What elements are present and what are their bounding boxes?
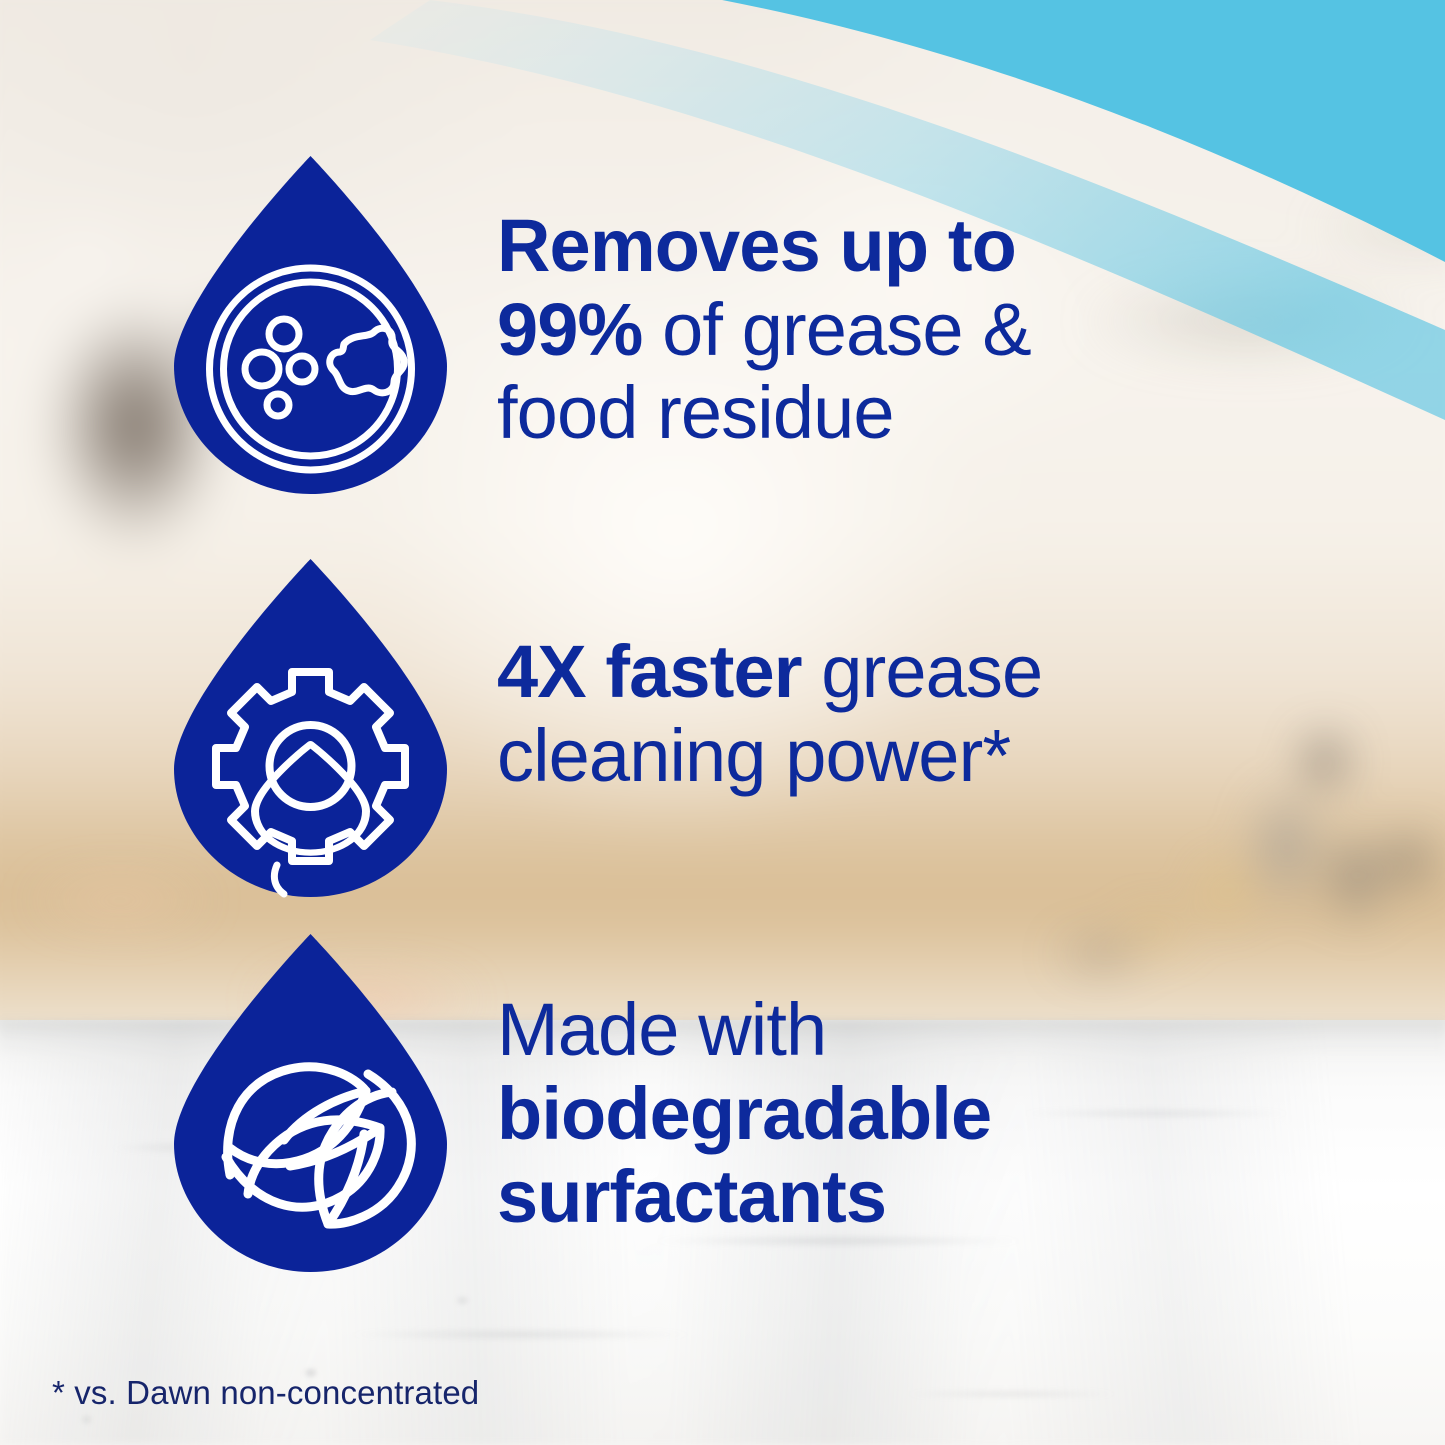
gear-with-water-droplet-icon — [168, 553, 453, 903]
product-benefits-panel: Removes up to 99% of grease & food resid… — [0, 0, 1445, 1445]
footnote-disclaimer: * vs. Dawn non-concentrated — [52, 1374, 479, 1412]
feature-3-bold-text: biodegradable surfactants — [497, 1072, 991, 1239]
feature-3-regular-text: Made with — [497, 988, 826, 1071]
features-list: Removes up to 99% of grease & food resid… — [0, 0, 1445, 1445]
feature-3-text: Made with biodegradable surfactants — [497, 988, 1137, 1239]
plate-with-bubbles-and-food-splat-icon — [168, 150, 453, 500]
feature-1-text: Removes up to 99% of grease & food resid… — [497, 204, 1157, 455]
feature-2-text: 4X faster grease cleaning power* — [497, 630, 1177, 797]
three-leaves-recycle-icon — [168, 928, 453, 1278]
feature-2-bold-text: 4X faster — [497, 630, 802, 713]
